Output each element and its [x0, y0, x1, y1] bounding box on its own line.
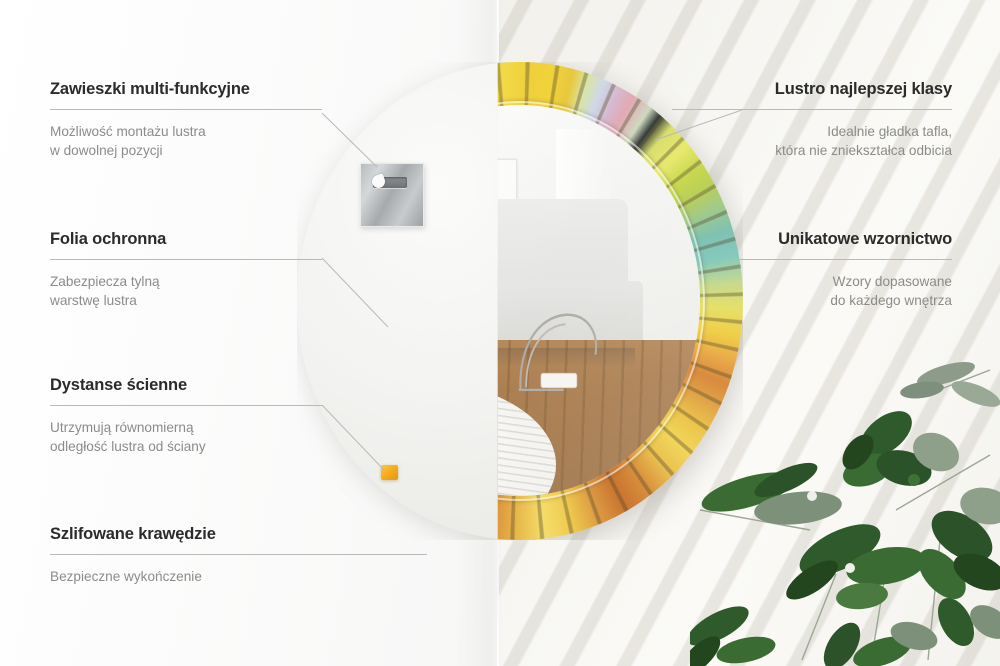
callout-spacers: Dystanse ścienne Utrzymują równomierną o… — [50, 376, 322, 457]
callout-design: Unikatowe wzornictwo Wzory dopasowane do… — [732, 230, 952, 311]
callout-glass-desc-line2: która nie zniekształca odbicia — [775, 143, 952, 158]
leaf-cluster-top-center — [836, 402, 965, 493]
callout-edges-rule — [50, 554, 427, 555]
callout-glass-rule — [672, 109, 952, 110]
callout-edges-title: Szlifowane krawędzie — [50, 525, 427, 545]
wall-hanger-plate-icon — [360, 163, 424, 227]
callout-spacers-title: Dystanse ścienne — [50, 376, 322, 396]
callout-hangers-desc-line2: w dowolnej pozycji — [50, 143, 163, 158]
callout-design-rule — [732, 259, 952, 260]
callout-film-desc-line2: warstwę lustra — [50, 293, 137, 308]
leaf-cluster-left — [698, 456, 844, 528]
callout-design-desc-line1: Wzory dopasowane — [833, 274, 952, 289]
callout-spacers-desc-line2: odległość lustra od ściany — [50, 439, 206, 454]
callout-film: Folia ochronna Zabezpiecza tylną warstwę… — [50, 230, 322, 311]
callout-hangers-desc: Możliwość montażu lustra w dowolnej pozy… — [50, 122, 322, 161]
callout-design-desc: Wzory dopasowane do każdego wnętrza — [732, 272, 952, 311]
callout-film-title: Folia ochronna — [50, 230, 322, 250]
wall-spacer-icon — [381, 465, 398, 480]
callout-spacers-desc: Utrzymują równomierną odległość lustra o… — [50, 418, 322, 457]
callout-spacers-desc-line1: Utrzymują równomierną — [50, 420, 194, 435]
callout-glass-title: Lustro najlepszej klasy — [672, 80, 952, 100]
callout-glass-desc: Idealnie gładka tafla, która nie znieksz… — [672, 122, 952, 161]
leaf-cluster-bottom-left — [690, 599, 778, 666]
callout-spacers-rule — [50, 405, 322, 406]
callout-design-title: Unikatowe wzornictwo — [732, 230, 952, 250]
callout-glass: Lustro najlepszej klasy Idealnie gładka … — [672, 80, 952, 161]
callout-edges: Szlifowane krawędzie Bezpieczne wykończe… — [50, 525, 427, 586]
callout-design-desc-line2: do każdego wnętrza — [830, 293, 952, 308]
callout-hangers-rule — [50, 109, 322, 110]
callout-hangers-title: Zawieszki multi-funkcyjne — [50, 80, 322, 100]
infographic-stage: Zawieszki multi-funkcyjne Możliwość mont… — [0, 0, 1000, 666]
foliage-decoration — [690, 360, 1000, 666]
callout-film-desc: Zabezpiecza tylną warstwę lustra — [50, 272, 322, 311]
reflected-wire-chair-icon — [513, 289, 607, 406]
callout-edges-desc: Bezpieczne wykończenie — [50, 567, 427, 587]
callout-film-rule — [50, 259, 322, 260]
callout-glass-desc-line1: Idealnie gładka tafla, — [827, 124, 952, 139]
callout-film-desc-line1: Zabezpiecza tylną — [50, 274, 160, 289]
leaf-cluster-bottom-center — [816, 617, 940, 666]
callout-hangers: Zawieszki multi-funkcyjne Możliwość mont… — [50, 80, 322, 161]
callout-hangers-desc-line1: Możliwość montażu lustra — [50, 124, 206, 139]
